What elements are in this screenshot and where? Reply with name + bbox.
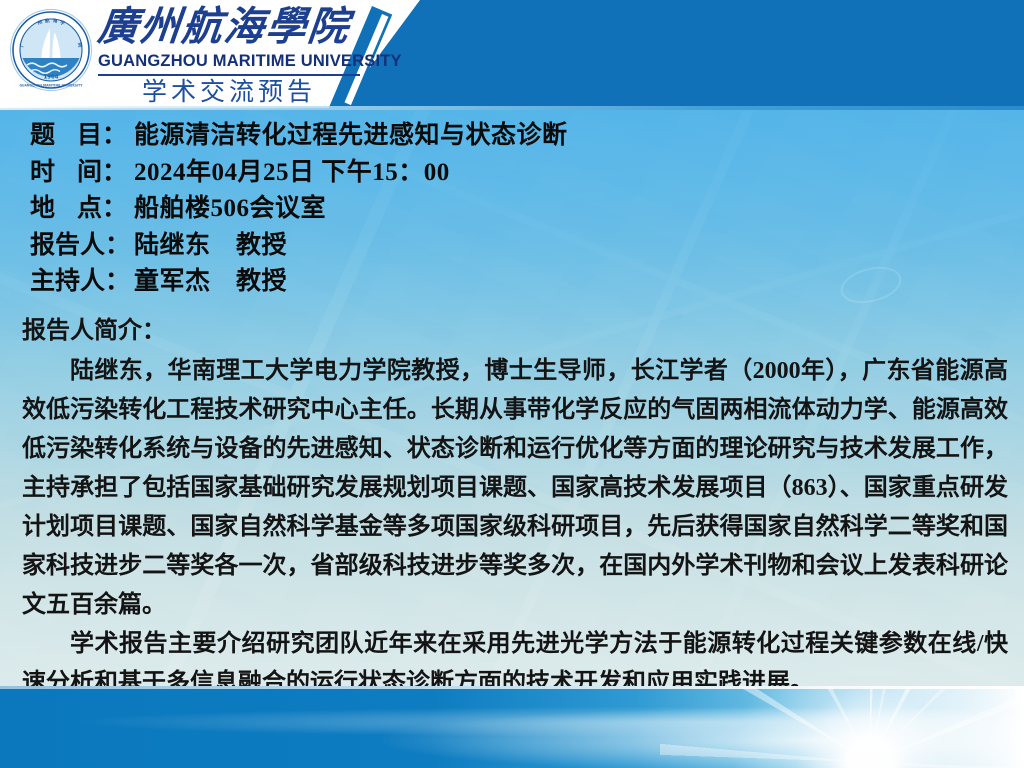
brand-block: 廣州航海學院 GUANGZHOU MARITIME UNIVERSITY 学术交… xyxy=(98,4,366,107)
info-label-speaker: 报告人： xyxy=(30,228,134,265)
footer-light-burst-icon xyxy=(660,686,1024,768)
info-label-topic: 题目： xyxy=(30,118,134,155)
biography-paragraph-1: 陆继东，华南理工大学电力学院教授，博士生导师，长江学者（2000年），广东省能源… xyxy=(22,352,1008,625)
university-seal-icon: 州 航 海 学 广 院 1964 GUANGZHOU MARITIME UNIV… xyxy=(9,8,93,92)
announcement-poster: 州 航 海 学 广 院 1964 GUANGZHOU MARITIME UNIV… xyxy=(0,0,1024,768)
header-bottom-edge xyxy=(0,106,1024,110)
info-value-host: 童军杰 教授 xyxy=(134,268,287,295)
info-value-topic: 能源清洁转化过程先进感知与状态诊断 xyxy=(134,122,568,149)
info-row-speaker: 报告人：陆继东 教授 xyxy=(30,228,730,265)
poster-header: 州 航 海 学 广 院 1964 GUANGZHOU MARITIME UNIV… xyxy=(0,0,1024,110)
info-row-venue: 地点：船舶楼506会议室 xyxy=(30,191,730,228)
info-label-venue: 地点： xyxy=(30,191,134,228)
biography-heading: 报告人简介： xyxy=(22,312,1008,351)
seal-year: 1964 xyxy=(43,75,58,81)
info-value-time: 2024年04月25日 下午15：00 xyxy=(134,159,450,186)
info-value-speaker: 陆继东 教授 xyxy=(134,232,287,259)
info-row-topic: 题目：能源清洁转化过程先进感知与状态诊断 xyxy=(30,118,730,155)
poster-subtitle: 学术交流预告 xyxy=(98,78,360,107)
brand-divider xyxy=(98,74,360,76)
brand-name-cn: 廣州航海學院 xyxy=(96,4,369,50)
info-row-time: 时间：2024年04月25日 下午15：00 xyxy=(30,155,730,192)
brand-name-en: GUANGZHOU MARITIME UNIVERSITY xyxy=(98,51,366,71)
event-info-block: 题目：能源清洁转化过程先进感知与状态诊断 时间：2024年04月25日 下午15… xyxy=(30,118,730,301)
info-row-host: 主持人：童军杰 教授 xyxy=(30,264,730,301)
svg-text:GUANGZHOU MARITIME UNIVERSITY: GUANGZHOU MARITIME UNIVERSITY xyxy=(20,83,84,87)
speaker-biography-block: 报告人简介： 陆继东，华南理工大学电力学院教授，博士生导师，长江学者（2000年… xyxy=(22,312,1008,703)
poster-footer-band xyxy=(0,686,1024,768)
info-label-time: 时间： xyxy=(30,155,134,192)
info-value-venue: 船舶楼506会议室 xyxy=(134,195,326,222)
info-label-host: 主持人： xyxy=(30,264,134,301)
